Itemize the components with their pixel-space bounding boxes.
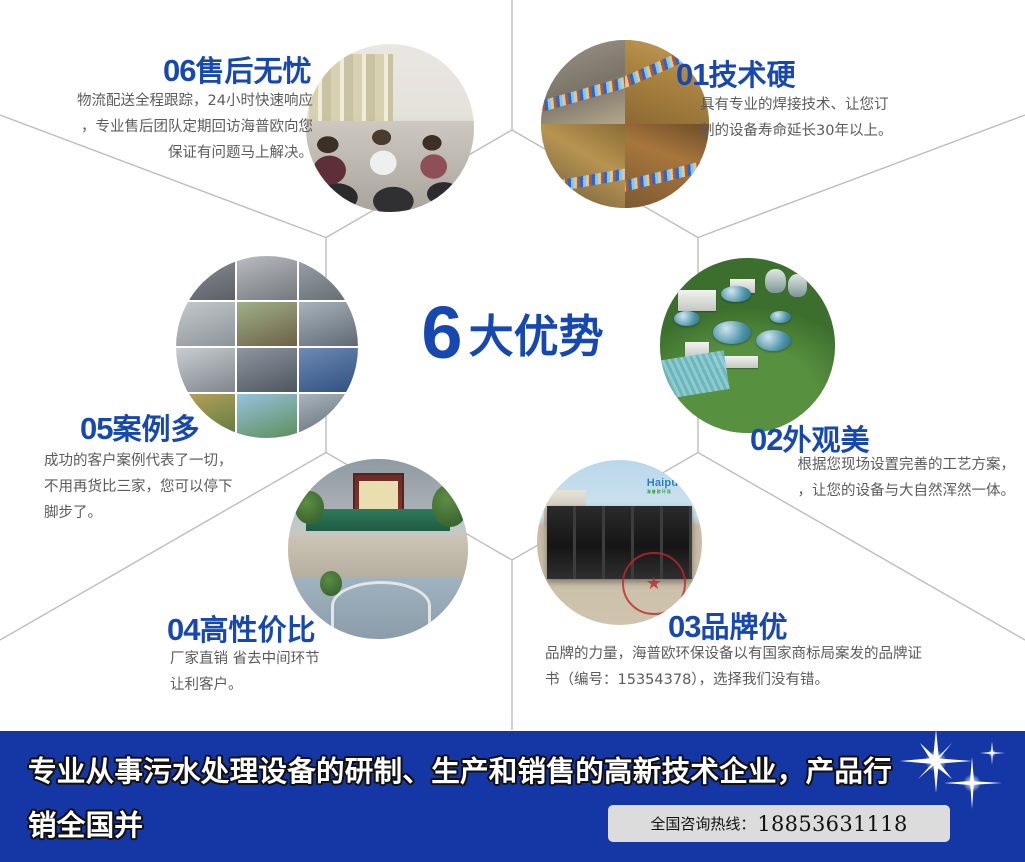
advantage-01-heading: 01技术硬: [676, 52, 796, 94]
banner-line-2: 远销欧美，山东省重点扶持的环保设备企业。: [28, 853, 908, 862]
office-photo: [306, 44, 474, 212]
advantage-06-line-3: 保证有问题马上解决。: [10, 140, 313, 166]
advantage-05-number: 05: [80, 411, 112, 446]
advantage-01-number: 01: [676, 57, 708, 92]
advantage-01-text: 具有专业的焊接技术、让您订 制的设备寿命延长30年以上。: [700, 92, 1020, 144]
advantage-06-image: [306, 44, 474, 212]
advantage-05-line-3: 脚步了。: [44, 500, 344, 526]
advantage-06-line-2: ，专业售后团队定期回访海普欧向您: [10, 114, 313, 140]
hotline-box[interactable]: 全国咨询热线：18853631118: [608, 805, 950, 842]
advantage-06-heading: 06售后无忧: [163, 48, 312, 90]
advantage-03-image: Haipuou 海普欧环保: [537, 460, 702, 625]
advantage-06-line-1: 物流配送全程跟踪，24小时快速响应: [10, 88, 313, 114]
advantage-02-line-2: ，让您的设备与大自然浑然一体。: [690, 478, 1015, 504]
banner-text: 专业从事污水处理设备的研制、生产和销售的高新技术企业，产品行销全国并 远销欧美，…: [28, 745, 908, 862]
advantage-04-heading: 04高性价比: [167, 607, 316, 649]
equipment-trademark-photo: Haipuou 海普欧环保: [537, 460, 702, 625]
advantage-03-number: 03: [668, 609, 700, 644]
infographic-root: 06售后无忧 物流配送全程跟踪，24小时快速响应 ，专业售后团队定期回访海普欧向…: [0, 0, 1025, 862]
advantage-01-line-1: 具有专业的焊接技术、让您订: [700, 92, 1020, 118]
advantage-03-heading: 03品牌优: [668, 604, 788, 646]
advantage-03-line-1: 品牌的力量，海普欧环保设备以有国家商标局案发的品牌证: [545, 641, 1025, 667]
center-label-text: 大优势: [469, 310, 604, 363]
advantage-02-text: 根据您现场设置完善的工艺方案， ，让您的设备与大自然浑然一体。: [690, 452, 1015, 504]
hotline-number: 18853631118: [757, 812, 907, 836]
haipuou-logo-text: Haipuou: [647, 477, 692, 489]
advantage-04-text: 厂家直销 省去中间环节 让利客户。: [170, 646, 500, 698]
advantage-01-line-2: 制的设备寿命延长30年以上。: [700, 118, 1020, 144]
advantage-03-title: 品牌优: [700, 612, 787, 644]
advantage-04-line-2: 让利客户。: [170, 672, 500, 698]
advantage-06-text: 物流配送全程跟踪，24小时快速响应 ，专业售后团队定期回访海普欧向您 保证有问题…: [10, 88, 313, 166]
advantage-06-number: 06: [163, 53, 195, 88]
advantage-05-title: 案例多: [112, 414, 199, 446]
center-number: 6: [421, 291, 460, 374]
advantage-04-number: 04: [167, 612, 199, 647]
advantage-05-text: 成功的客户案例代表了一切， 不用再货比三家，您可以停下 脚步了。: [44, 448, 344, 526]
haipuou-logo: Haipuou 海普欧环保: [647, 477, 692, 495]
advantage-03-line-2: 书（编号：15354378），选择我们没有错。: [545, 667, 1025, 693]
advantage-04-line-1: 厂家直销 省去中间环节: [170, 646, 500, 672]
advantage-03-text: 品牌的力量，海普欧环保设备以有国家商标局案发的品牌证 书（编号：15354378…: [545, 641, 1025, 693]
bottom-banner: 专业从事污水处理设备的研制、生产和销售的高新技术企业，产品行销全国并 远销欧美，…: [0, 731, 1025, 862]
center-title: 6大优势: [0, 296, 1025, 370]
hotline-label: 全国咨询热线：: [650, 813, 755, 834]
advantage-05-line-1: 成功的客户案例代表了一切，: [44, 448, 344, 474]
haipuou-logo-sub: 海普欧环保: [647, 489, 692, 495]
advantage-05-line-2: 不用再货比三家，您可以停下: [44, 474, 344, 500]
advantage-02-line-1: 根据您现场设置完善的工艺方案，: [690, 452, 1015, 478]
advantage-06-title: 售后无忧: [195, 56, 311, 88]
advantage-01-title: 技术硬: [708, 60, 795, 92]
advantage-05-heading: 05案例多: [80, 406, 200, 448]
advantage-04-title: 高性价比: [199, 615, 315, 647]
